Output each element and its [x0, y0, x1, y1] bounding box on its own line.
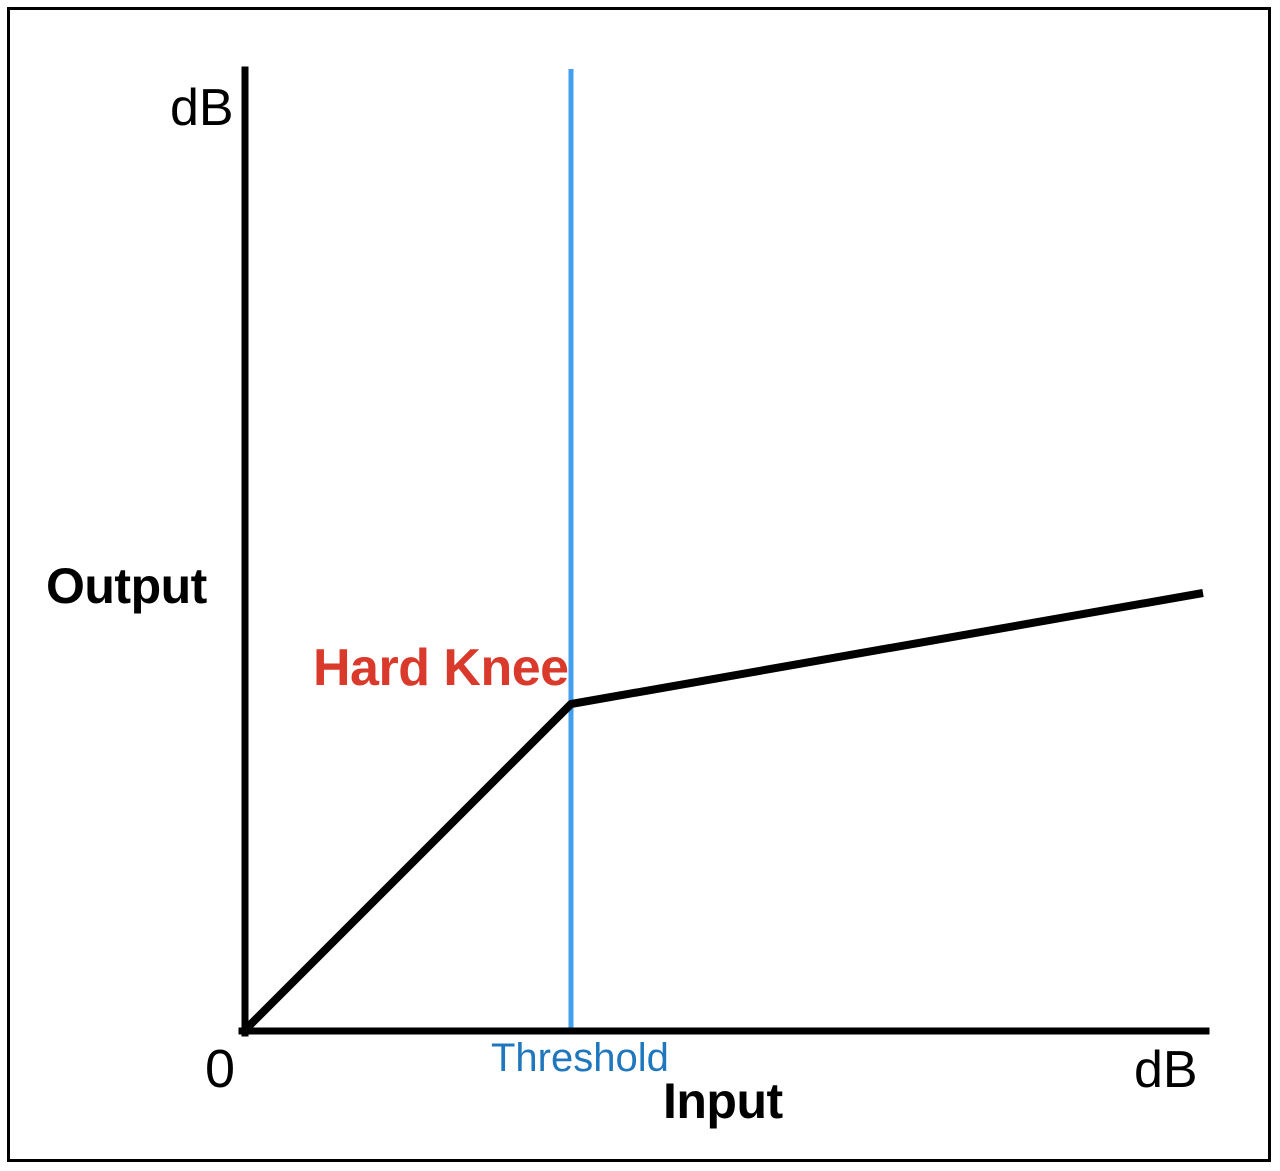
- x-axis-unit-label: dB: [1134, 1044, 1198, 1096]
- threshold-tick-label: Threshold: [491, 1038, 669, 1078]
- origin-tick-label: 0: [205, 1042, 235, 1096]
- y-axis-title: Output: [46, 561, 207, 611]
- compressor-transfer-curve-figure: dB 0 dB Output Input Hard Knee Threshold: [0, 0, 1280, 1171]
- y-axis-unit-label: dB: [170, 82, 234, 134]
- hard-knee-annotation: Hard Knee: [313, 642, 569, 694]
- x-axis-title: Input: [663, 1076, 783, 1126]
